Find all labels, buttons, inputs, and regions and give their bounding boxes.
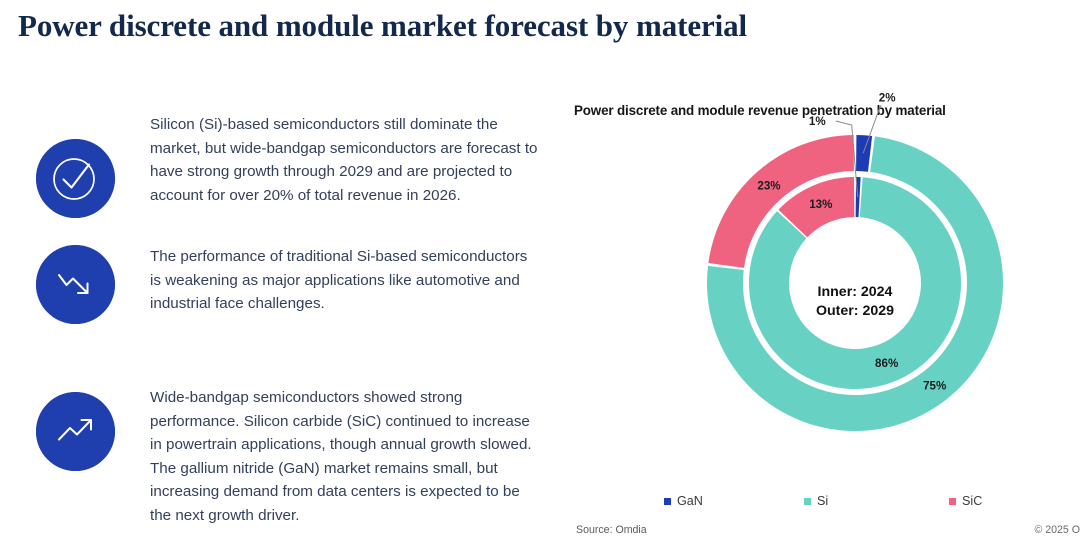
slice-label-inner-sic: 13% <box>809 198 832 211</box>
legend-item-sic[interactable]: SiC <box>949 494 982 508</box>
legend-label-si: Si <box>817 494 828 508</box>
legend-item-si[interactable]: Si <box>804 494 828 508</box>
insight-text: Wide-bandgap semiconductors showed stron… <box>150 386 542 527</box>
donut-center-label-outer-year: Outer: 2029 <box>816 303 894 319</box>
check-circle-icon <box>36 139 115 218</box>
page-title: Power discrete and module market forecas… <box>18 8 747 44</box>
donut-ring-inner <box>749 177 961 389</box>
legend-label-sic: SiC <box>962 494 982 508</box>
chart-legend: GaN Si SiC <box>664 494 1044 514</box>
donut-center-label-inner-year: Inner: 2024 <box>818 284 893 300</box>
trend-down-icon <box>36 245 115 324</box>
legend-swatch-sic <box>949 498 956 505</box>
chart-title: Power discrete and module revenue penetr… <box>574 103 946 118</box>
source-note: Source: Omdia <box>576 524 647 536</box>
insight-text: Silicon (Si)-based semiconductors still … <box>150 113 542 207</box>
slice-label-outer-gan: 2% <box>879 91 896 104</box>
copyright-note: © 2025 O <box>1035 524 1080 536</box>
donut-chart: 75%23%86%13%2%1% Inner: 2024 Outer: 2029 <box>560 121 1060 481</box>
trend-up-icon <box>36 392 115 471</box>
legend-item-gan[interactable]: GaN <box>664 494 703 508</box>
slice-label-inner-gan: 1% <box>809 115 826 128</box>
slice-label-outer-sic: 23% <box>757 179 780 192</box>
legend-label-gan: GaN <box>677 494 703 508</box>
insight-text: The performance of traditional Si-based … <box>150 245 542 316</box>
slice-label-outer-si: 75% <box>923 380 946 393</box>
legend-swatch-si <box>804 498 811 505</box>
legend-swatch-gan <box>664 498 671 505</box>
slice-label-inner-si: 86% <box>875 357 898 370</box>
donut-slice-gan[interactable] <box>856 135 872 172</box>
chart-panel: Power discrete and module revenue penetr… <box>560 95 1060 542</box>
